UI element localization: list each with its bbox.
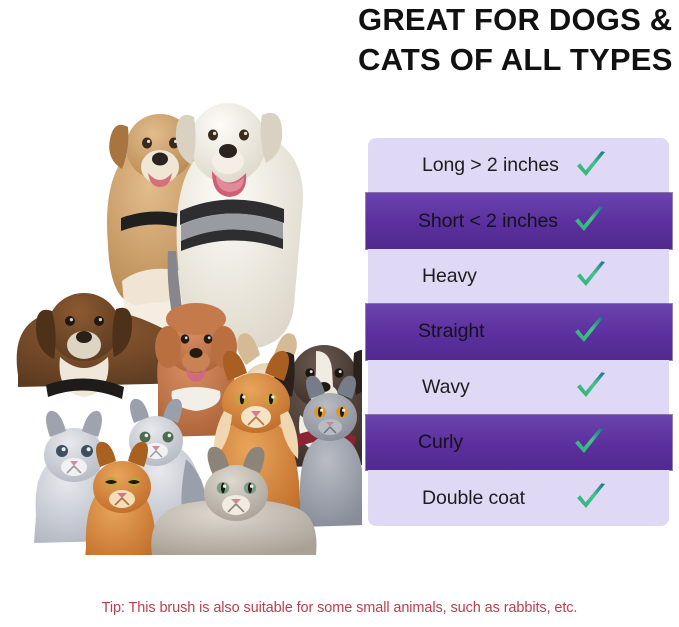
table-row[interactable]: Long > 2 inches <box>368 138 669 193</box>
feature-label: Straight <box>418 320 484 343</box>
table-row[interactable]: Wavy <box>368 360 669 415</box>
table-row[interactable]: Double coat <box>368 470 669 525</box>
page-title-line-1: GREAT FOR DOGS & <box>358 0 676 40</box>
feature-label: Wavy <box>422 376 470 399</box>
green-checkmark-icon <box>572 426 606 460</box>
feature-label: Long > 2 inches <box>422 154 559 177</box>
table-row[interactable]: Straight <box>366 304 672 359</box>
table-row[interactable]: Heavy <box>368 249 669 304</box>
page-title: GREAT FOR DOGS & CATS OF ALL TYPES <box>358 0 676 80</box>
feature-label: Heavy <box>422 265 477 288</box>
green-checkmark-icon <box>574 259 608 293</box>
table-row[interactable]: Short < 2 inches <box>366 193 672 248</box>
green-checkmark-icon <box>574 149 608 183</box>
coat-type-feature-table: Long > 2 inches Short < 2 inches Heavy S… <box>366 138 672 526</box>
green-checkmark-icon <box>574 370 608 404</box>
table-row[interactable]: Curly <box>366 415 672 470</box>
green-checkmark-icon <box>572 204 606 238</box>
tip-text: Tip: This brush is also suitable for som… <box>0 600 679 616</box>
dogs-and-cats-collage-photo <box>0 55 362 555</box>
green-checkmark-icon <box>572 315 606 349</box>
green-checkmark-icon <box>574 481 608 515</box>
feature-label: Curly <box>418 431 463 454</box>
feature-label: Short < 2 inches <box>418 210 558 233</box>
page-title-line-2: CATS OF ALL TYPES <box>358 40 676 80</box>
feature-label: Double coat <box>422 487 525 510</box>
